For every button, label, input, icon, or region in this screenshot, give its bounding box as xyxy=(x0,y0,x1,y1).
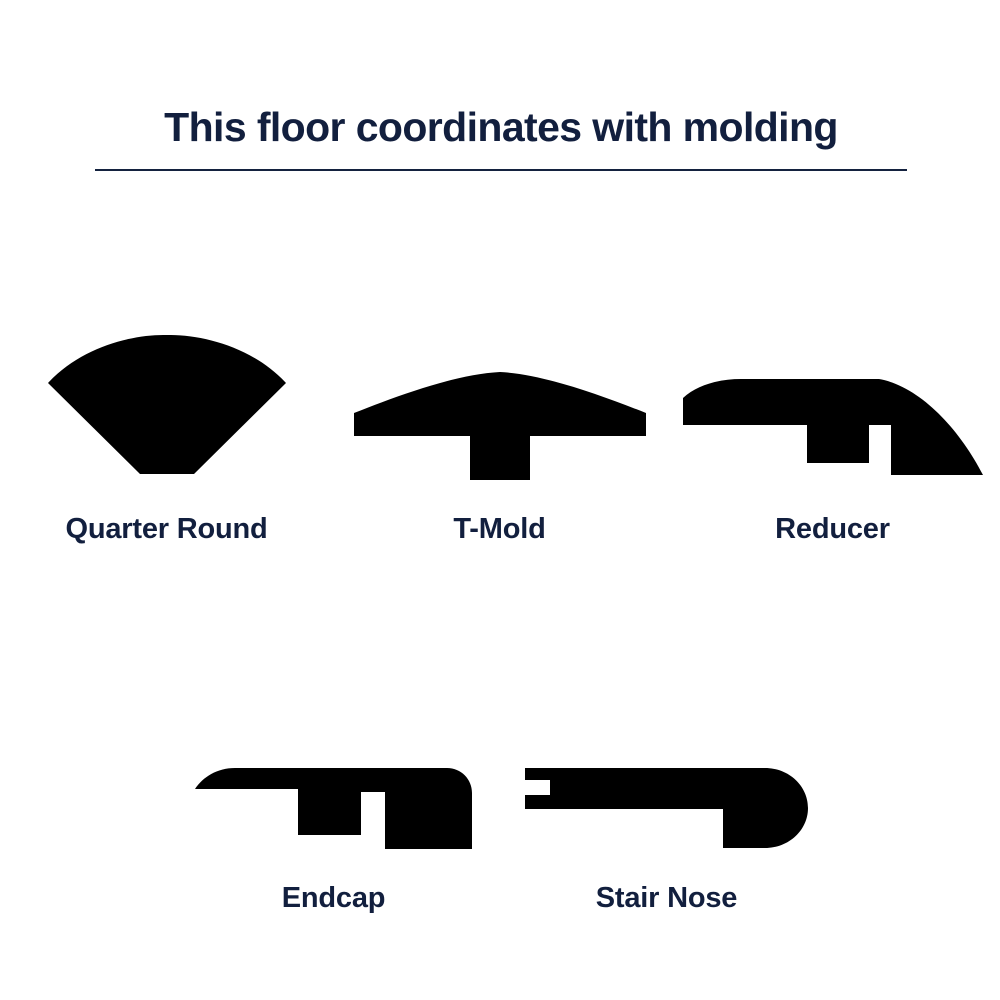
molding-item-stair-nose[interactable]: Stair Nose xyxy=(500,699,833,913)
stair-nose-icon xyxy=(525,767,808,849)
molding-label-reducer: Reducer xyxy=(775,515,890,544)
molding-coordinates-page: This floor coordinates with molding Quar… xyxy=(0,0,1000,1000)
molding-label-endcap: Endcap xyxy=(282,884,386,913)
molding-label-stair-nose: Stair Nose xyxy=(596,884,737,913)
quarter-round-icon xyxy=(47,335,287,480)
quarter-round-figure xyxy=(0,330,333,480)
endcap-figure xyxy=(167,699,500,849)
molding-item-reducer[interactable]: Reducer xyxy=(666,330,999,544)
t-mold-icon xyxy=(354,368,646,480)
molding-item-t-mold[interactable]: T-Mold xyxy=(333,330,666,544)
stair-nose-figure xyxy=(500,699,833,849)
molding-row: Endcap Stair Nose xyxy=(0,699,1000,913)
header: This floor coordinates with molding xyxy=(95,104,907,171)
molding-row: Quarter Round T-Mold Reducer xyxy=(0,330,1000,544)
molding-label-quarter-round: Quarter Round xyxy=(65,515,267,544)
molding-item-quarter-round[interactable]: Quarter Round xyxy=(0,330,333,544)
title-divider xyxy=(95,169,907,171)
reducer-icon xyxy=(683,370,983,480)
molding-item-endcap[interactable]: Endcap xyxy=(167,699,500,913)
page-title: This floor coordinates with molding xyxy=(95,104,907,152)
molding-label-t-mold: T-Mold xyxy=(453,515,545,544)
molding-grid: Quarter Round T-Mold Reducer xyxy=(0,330,1000,913)
t-mold-figure xyxy=(333,330,666,480)
reducer-figure xyxy=(666,330,999,480)
endcap-icon xyxy=(195,767,472,849)
